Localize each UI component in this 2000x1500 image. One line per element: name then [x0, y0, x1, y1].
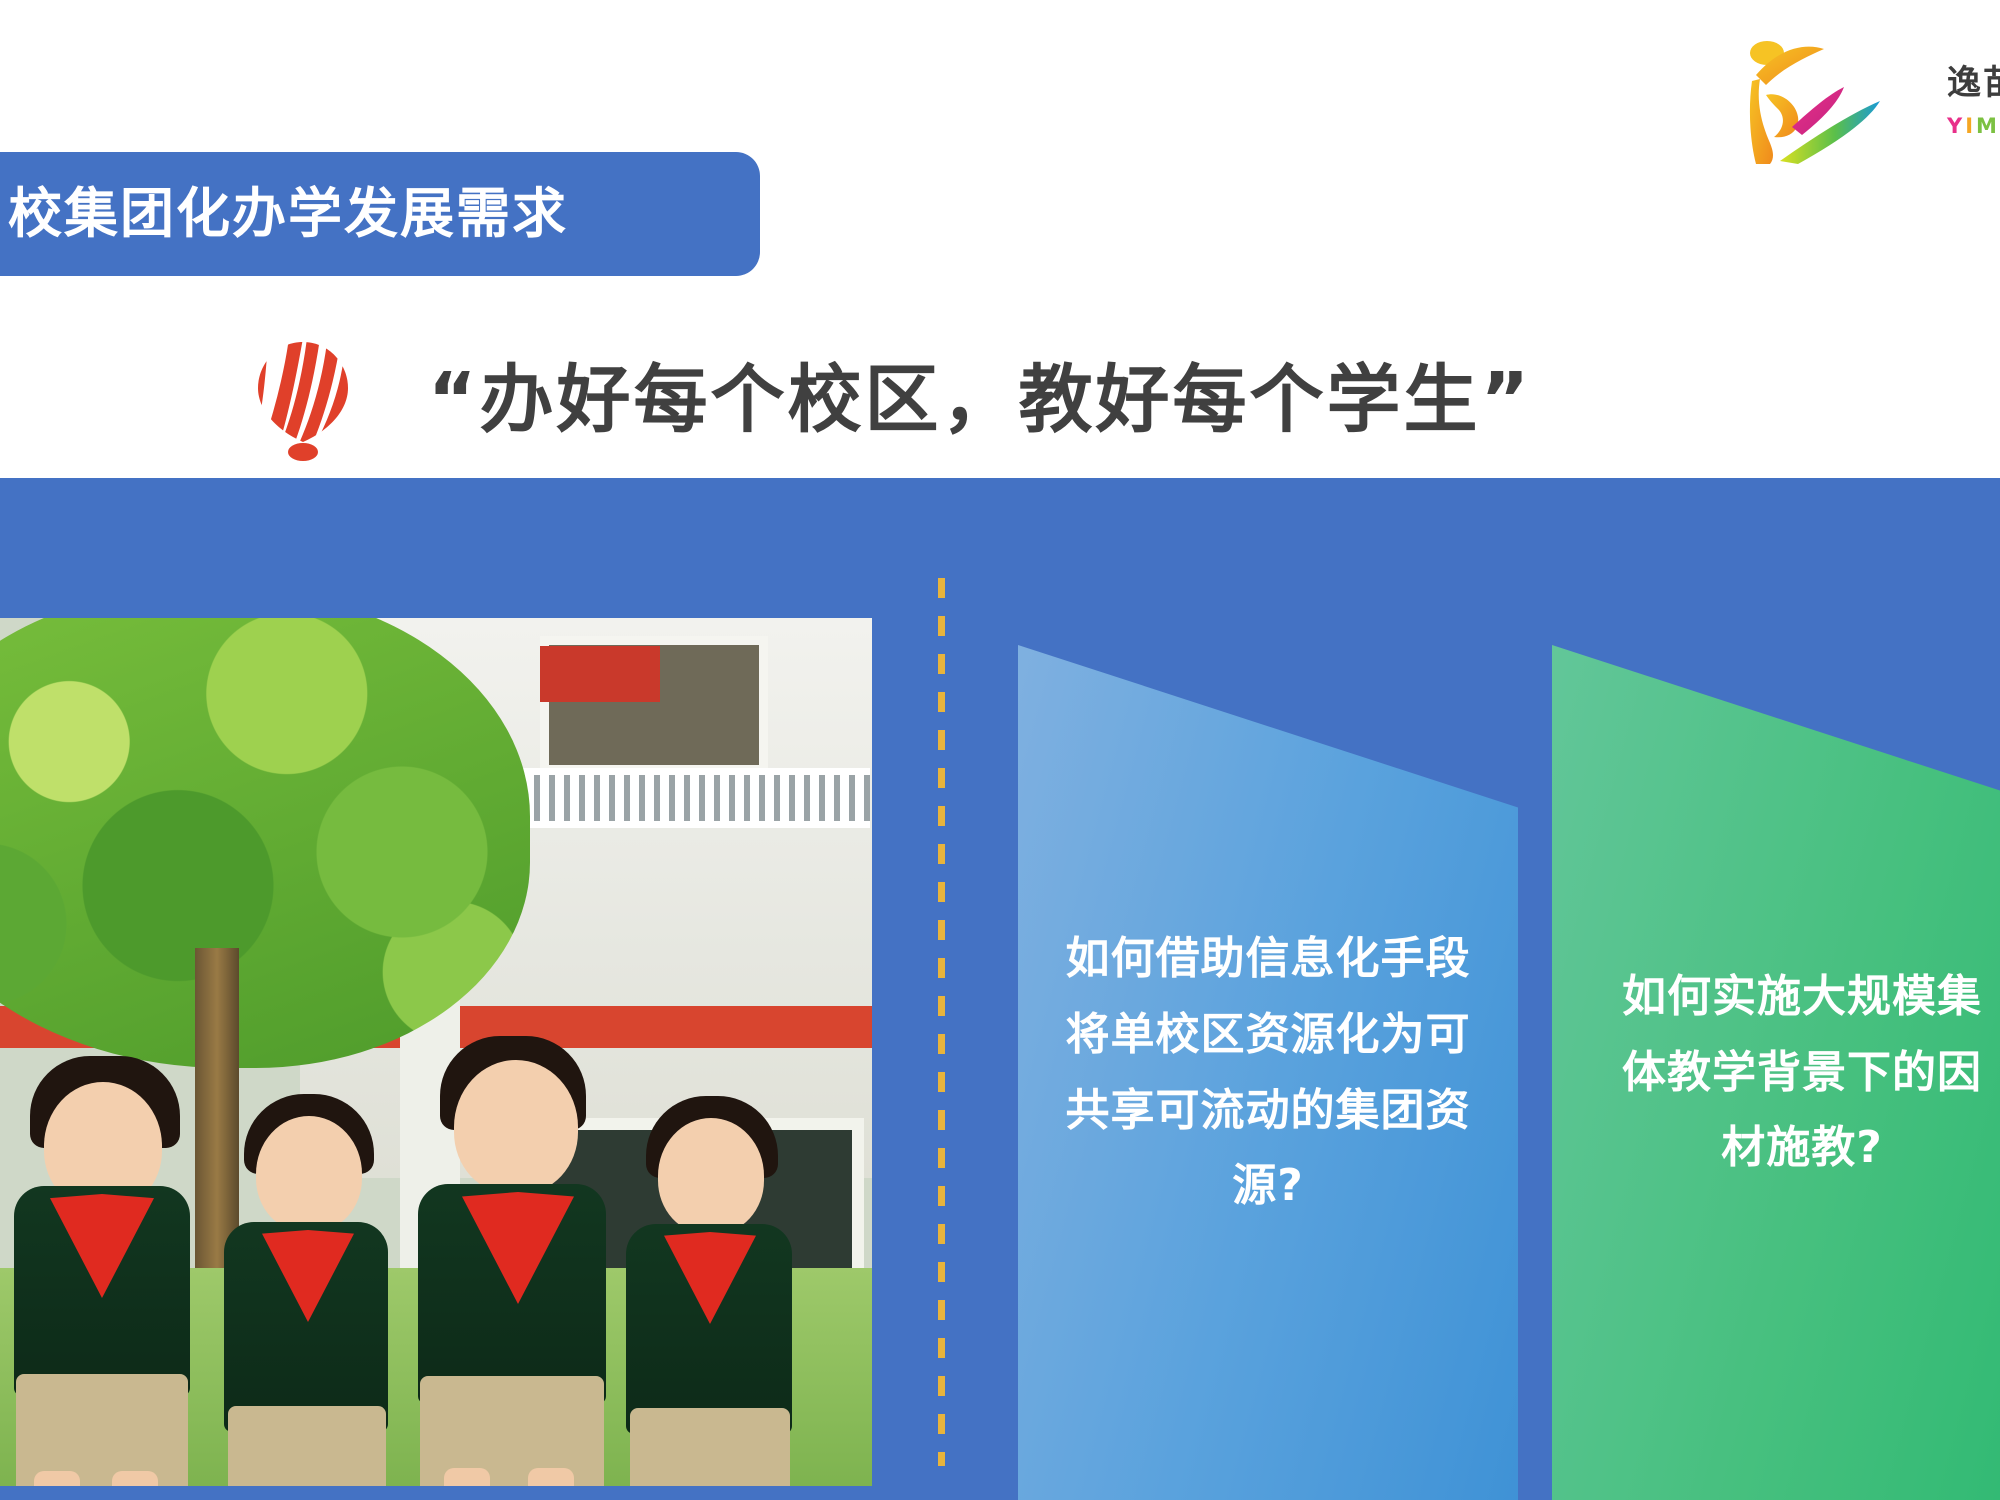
- section-title-text: 校集团化办学发展需求: [8, 187, 568, 241]
- chevron-blue: 如何借助信息化手段将单校区资源化为可共享可流动的集团资源?: [1018, 645, 1518, 1500]
- chevron-blue-text: 如何借助信息化手段将单校区资源化为可共享可流动的集团资源?: [1018, 921, 1518, 1224]
- brand-logo: 逸苗教育 YIMIA: [1740, 26, 2000, 166]
- hot-air-balloon-icon: [248, 338, 358, 463]
- logo-letter-3: M: [1976, 114, 2000, 138]
- campus-students-photo: [0, 618, 872, 1486]
- chevron-green: 如何实施大规模集体教学背景下的因材施教?: [1552, 645, 2000, 1500]
- dashed-divider: [938, 578, 945, 1466]
- logo-letter-2: I: [1965, 114, 1976, 138]
- section-title-banner: 校集团化办学发展需求: [0, 152, 760, 276]
- logo-wordmark: 逸苗教育 YIMIA: [1947, 55, 2000, 138]
- chevron-green-text: 如何实施大规模集体教学背景下的因材施教?: [1552, 959, 2000, 1186]
- logo-cn-text: 逸苗教育: [1947, 55, 2000, 104]
- logo-en-text: YIMIA: [1947, 114, 2000, 138]
- headline-text: “办好每个校区，教好每个学生”: [428, 363, 1532, 437]
- logo-letter-1: Y: [1947, 114, 1965, 138]
- headline-row: “办好每个校区，教好每个学生”: [0, 330, 2000, 470]
- yimiao-figure-logo-icon: [1740, 29, 1925, 164]
- slide-canvas: 逸苗教育 YIMIA 校集团化办学发展需求: [0, 0, 2000, 1500]
